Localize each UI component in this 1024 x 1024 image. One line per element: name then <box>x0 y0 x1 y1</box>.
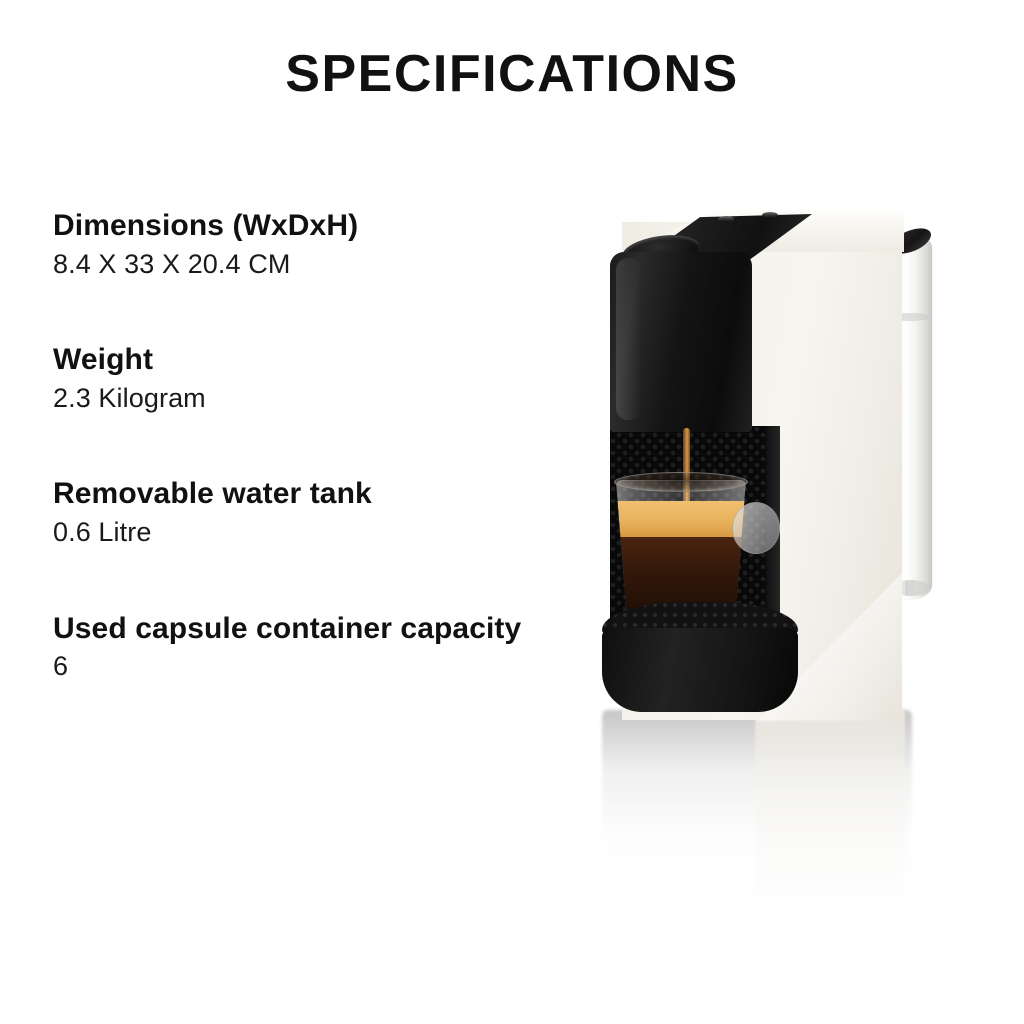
cup-rim <box>614 472 748 492</box>
spec-value-capsule-capacity: 6 <box>53 649 523 685</box>
spec-label-dimensions: Dimensions (WxDxH) <box>53 206 523 246</box>
page-title: SPECIFICATIONS <box>0 46 1024 103</box>
lid-button-left <box>718 216 734 222</box>
spec-value-dimensions: 8.4 X 33 X 20.4 CM <box>53 247 523 283</box>
spec-item-water-tank: Removable water tank 0.6 Litre <box>53 474 523 550</box>
spec-value-weight: 2.3 Kilogram <box>53 381 523 417</box>
cup-espresso-layer <box>617 537 746 612</box>
spec-label-weight: Weight <box>53 340 523 380</box>
cup-crema-layer <box>617 501 746 537</box>
specifications-list: Dimensions (WxDxH) 8.4 X 33 X 20.4 CM We… <box>53 206 523 685</box>
spec-label-capsule-capacity: Used capsule container capacity <box>53 609 523 649</box>
spec-value-water-tank: 0.6 Litre <box>53 515 523 551</box>
brew-head-highlight <box>616 258 642 420</box>
spec-item-dimensions: Dimensions (WxDxH) 8.4 X 33 X 20.4 CM <box>53 206 523 282</box>
lid-button-right <box>762 212 778 218</box>
reflection-body <box>755 710 905 920</box>
product-image-coffee-machine <box>560 150 1000 940</box>
glass-cup <box>616 480 746 612</box>
spec-item-capsule-capacity: Used capsule container capacity 6 <box>53 609 523 685</box>
cup-handle <box>732 502 780 554</box>
spec-item-weight: Weight 2.3 Kilogram <box>53 340 523 416</box>
drip-tray-body <box>602 628 798 712</box>
spec-label-water-tank: Removable water tank <box>53 474 523 514</box>
